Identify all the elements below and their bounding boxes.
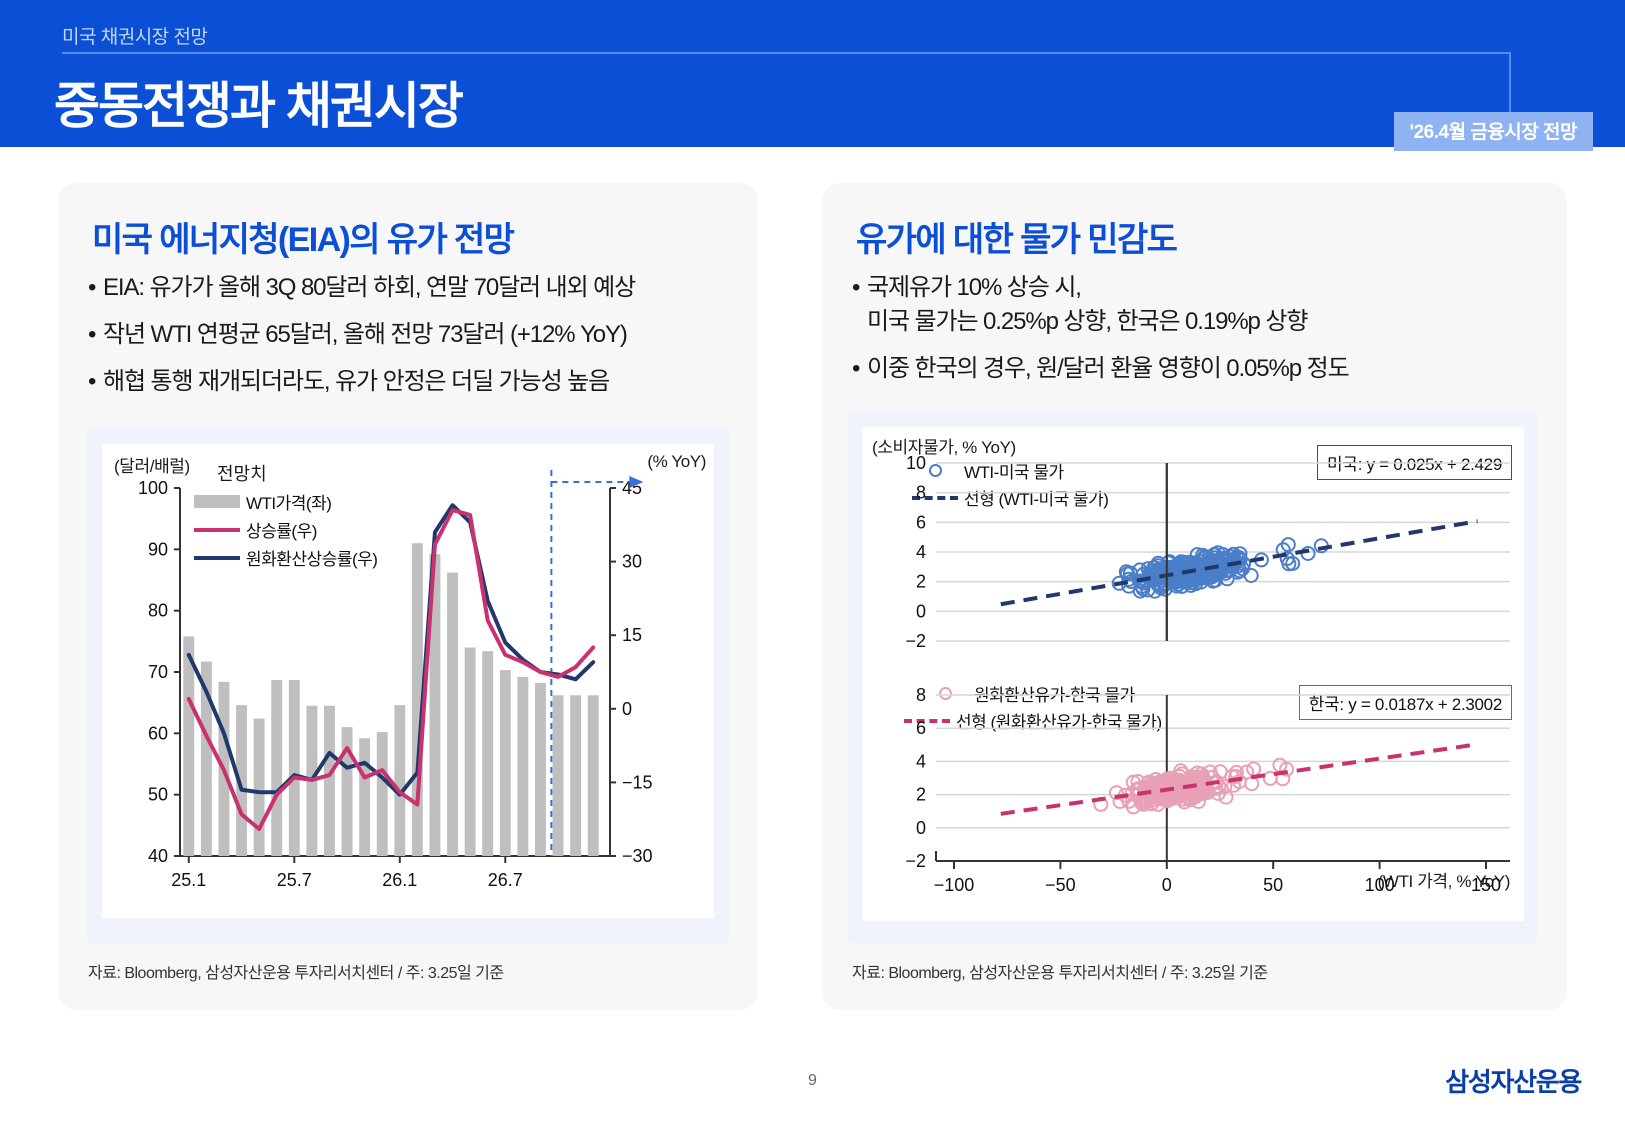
list-item: • EIA: 유가가 올해 3Q 80달러 하회, 연말 70달러 내외 예상	[88, 271, 748, 305]
svg-text:−2: −2	[905, 631, 926, 651]
right-panel-source: 자료: Bloomberg, 삼성자산운용 투자리서치센터 / 주: 3.25일…	[852, 959, 1268, 983]
svg-text:40: 40	[148, 846, 168, 866]
header-divider	[62, 52, 1511, 54]
svg-text:−50: −50	[1045, 875, 1076, 895]
svg-text:8: 8	[916, 483, 926, 503]
svg-text:8: 8	[916, 685, 926, 705]
svg-text:0: 0	[916, 601, 926, 621]
svg-text:−2: −2	[905, 851, 926, 871]
right-panel-title: 유가에 대한 물가 민감도	[856, 212, 1176, 261]
left-panel-bullets: • EIA: 유가가 올해 3Q 80달러 하회, 연말 70달러 내외 예상 …	[88, 271, 748, 412]
svg-text:60: 60	[148, 723, 168, 743]
status-badge: '26.4월 금융시장 전망	[1394, 112, 1593, 151]
list-item-label: 이중 한국의 경우, 원/달러 환율 영향이 0.05%p 정도	[867, 352, 1552, 386]
list-item-label: 해협 통행 재개되더라도, 유가 안정은 더딜 가능성 높음	[103, 365, 748, 399]
svg-text:−100: −100	[934, 875, 975, 895]
list-item-label: EIA: 유가가 올해 3Q 80달러 하회, 연말 70달러 내외 예상	[103, 271, 748, 305]
svg-text:2: 2	[916, 785, 926, 805]
page-number: 9	[0, 1072, 1625, 1090]
svg-text:−15: −15	[622, 772, 653, 792]
svg-text:100: 100	[1365, 875, 1395, 895]
bullet-dot-icon: •	[852, 271, 867, 339]
svg-text:2: 2	[916, 572, 926, 592]
svg-text:150: 150	[1471, 875, 1501, 895]
right-panel-bullets: • 국제유가 10% 상승 시, 미국 물가는 0.25%p 상향, 한국은 0…	[852, 271, 1552, 399]
bullet-dot-icon: •	[88, 318, 103, 352]
left-panel: 미국 에너지청(EIA)의 유가 전망 • EIA: 유가가 올해 3Q 80달…	[58, 183, 758, 1010]
svg-text:6: 6	[916, 718, 926, 738]
sensitivity-chart-plot-surface: (소비자물가, % YoY) WTI-미국 물가 선형 (WTI-미국 물가) …	[862, 427, 1524, 921]
svg-text:0: 0	[916, 818, 926, 838]
eia-oil-outlook-chart: (달러/배럴) (% YoY) WTI가격(좌) 상승률(우) 원화환산상승률(…	[86, 427, 730, 943]
eia-chart-svg: 405060708090100−30−15015304525.125.726.1…	[102, 444, 714, 918]
svg-text:70: 70	[148, 662, 168, 682]
list-item-label: 국제유가 10% 상승 시,	[867, 274, 1081, 301]
svg-text:100: 100	[138, 478, 168, 498]
header-divider-vertical	[1509, 52, 1511, 114]
svg-text:−30: −30	[622, 846, 653, 866]
svg-text:50: 50	[1263, 875, 1283, 895]
list-item: • 해협 통행 재개되더라도, 유가 안정은 더딜 가능성 높음	[88, 365, 748, 399]
list-item-sublabel: 미국 물가는 0.25%p 상향, 한국은 0.19%p 상향	[867, 305, 1552, 339]
bullet-dot-icon: •	[88, 271, 103, 305]
list-item-label: 작년 WTI 연평균 65달러, 올해 전망 73달러 (+12% YoY)	[103, 318, 748, 352]
list-item: • 작년 WTI 연평균 65달러, 올해 전망 73달러 (+12% YoY)	[88, 318, 748, 352]
svg-text:0: 0	[622, 699, 632, 719]
svg-text:26.7: 26.7	[488, 870, 523, 890]
company-logo: 삼성자산운용	[1445, 1062, 1581, 1099]
list-item: • 국제유가 10% 상승 시, 미국 물가는 0.25%p 상향, 한국은 0…	[852, 271, 1552, 339]
svg-text:4: 4	[916, 751, 926, 771]
right-panel: 유가에 대한 물가 민감도 • 국제유가 10% 상승 시, 미국 물가는 0.…	[822, 183, 1567, 1010]
svg-text:50: 50	[148, 785, 168, 805]
svg-text:80: 80	[148, 601, 168, 621]
list-item: • 이중 한국의 경우, 원/달러 환율 영향이 0.05%p 정도	[852, 352, 1552, 386]
svg-text:26.1: 26.1	[382, 870, 417, 890]
svg-text:30: 30	[622, 552, 642, 572]
svg-text:15: 15	[622, 625, 642, 645]
bullet-dot-icon: •	[852, 352, 867, 386]
svg-text:6: 6	[916, 512, 926, 532]
header-eyebrow: 미국 채권시장 전망	[62, 22, 207, 49]
slide-header: 미국 채권시장 전망 중동전쟁과 채권시장 '26.4월 금융시장 전망	[0, 0, 1625, 147]
oil-cpi-sensitivity-chart: (소비자물가, % YoY) WTI-미국 물가 선형 (WTI-미국 물가) …	[848, 411, 1538, 943]
svg-text:4: 4	[916, 542, 926, 562]
svg-text:25.1: 25.1	[171, 870, 206, 890]
bullet-dot-icon: •	[88, 365, 103, 399]
svg-text:10: 10	[906, 453, 926, 473]
svg-text:90: 90	[148, 539, 168, 559]
svg-text:0: 0	[1162, 875, 1172, 895]
left-panel-title: 미국 에너지청(EIA)의 유가 전망	[92, 212, 513, 261]
left-panel-source: 자료: Bloomberg, 삼성자산운용 투자리서치센터 / 주: 3.25일…	[88, 959, 504, 983]
sensitivity-chart-svg: −20246810−202468−100−50050100150	[862, 427, 1524, 921]
eia-chart-plot-surface: (달러/배럴) (% YoY) WTI가격(좌) 상승률(우) 원화환산상승률(…	[102, 444, 714, 918]
svg-text:25.7: 25.7	[277, 870, 312, 890]
page-title: 중동전쟁과 채권시장	[54, 66, 462, 138]
